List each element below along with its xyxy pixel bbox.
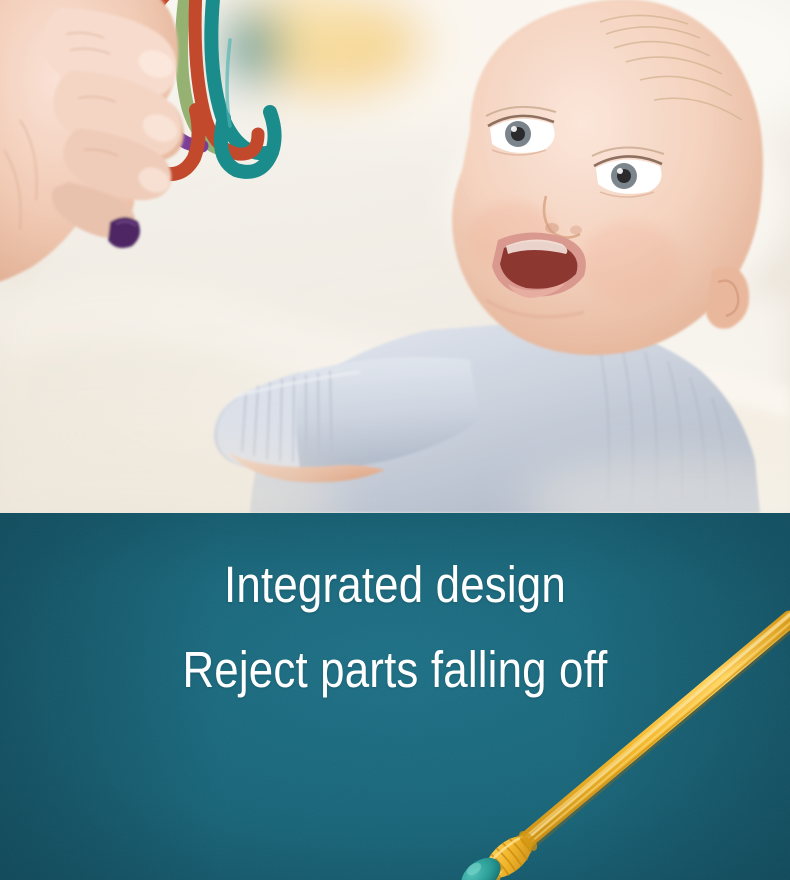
baby-head (452, 0, 763, 355)
product-banner: Integrated design Reject parts falling o… (0, 0, 790, 880)
photo-illustration (0, 0, 790, 513)
cord-decoration (0, 513, 790, 880)
caption-panel: Integrated design Reject parts falling o… (0, 513, 790, 880)
lifestyle-photo (0, 0, 790, 513)
cord-shaft (516, 613, 790, 857)
